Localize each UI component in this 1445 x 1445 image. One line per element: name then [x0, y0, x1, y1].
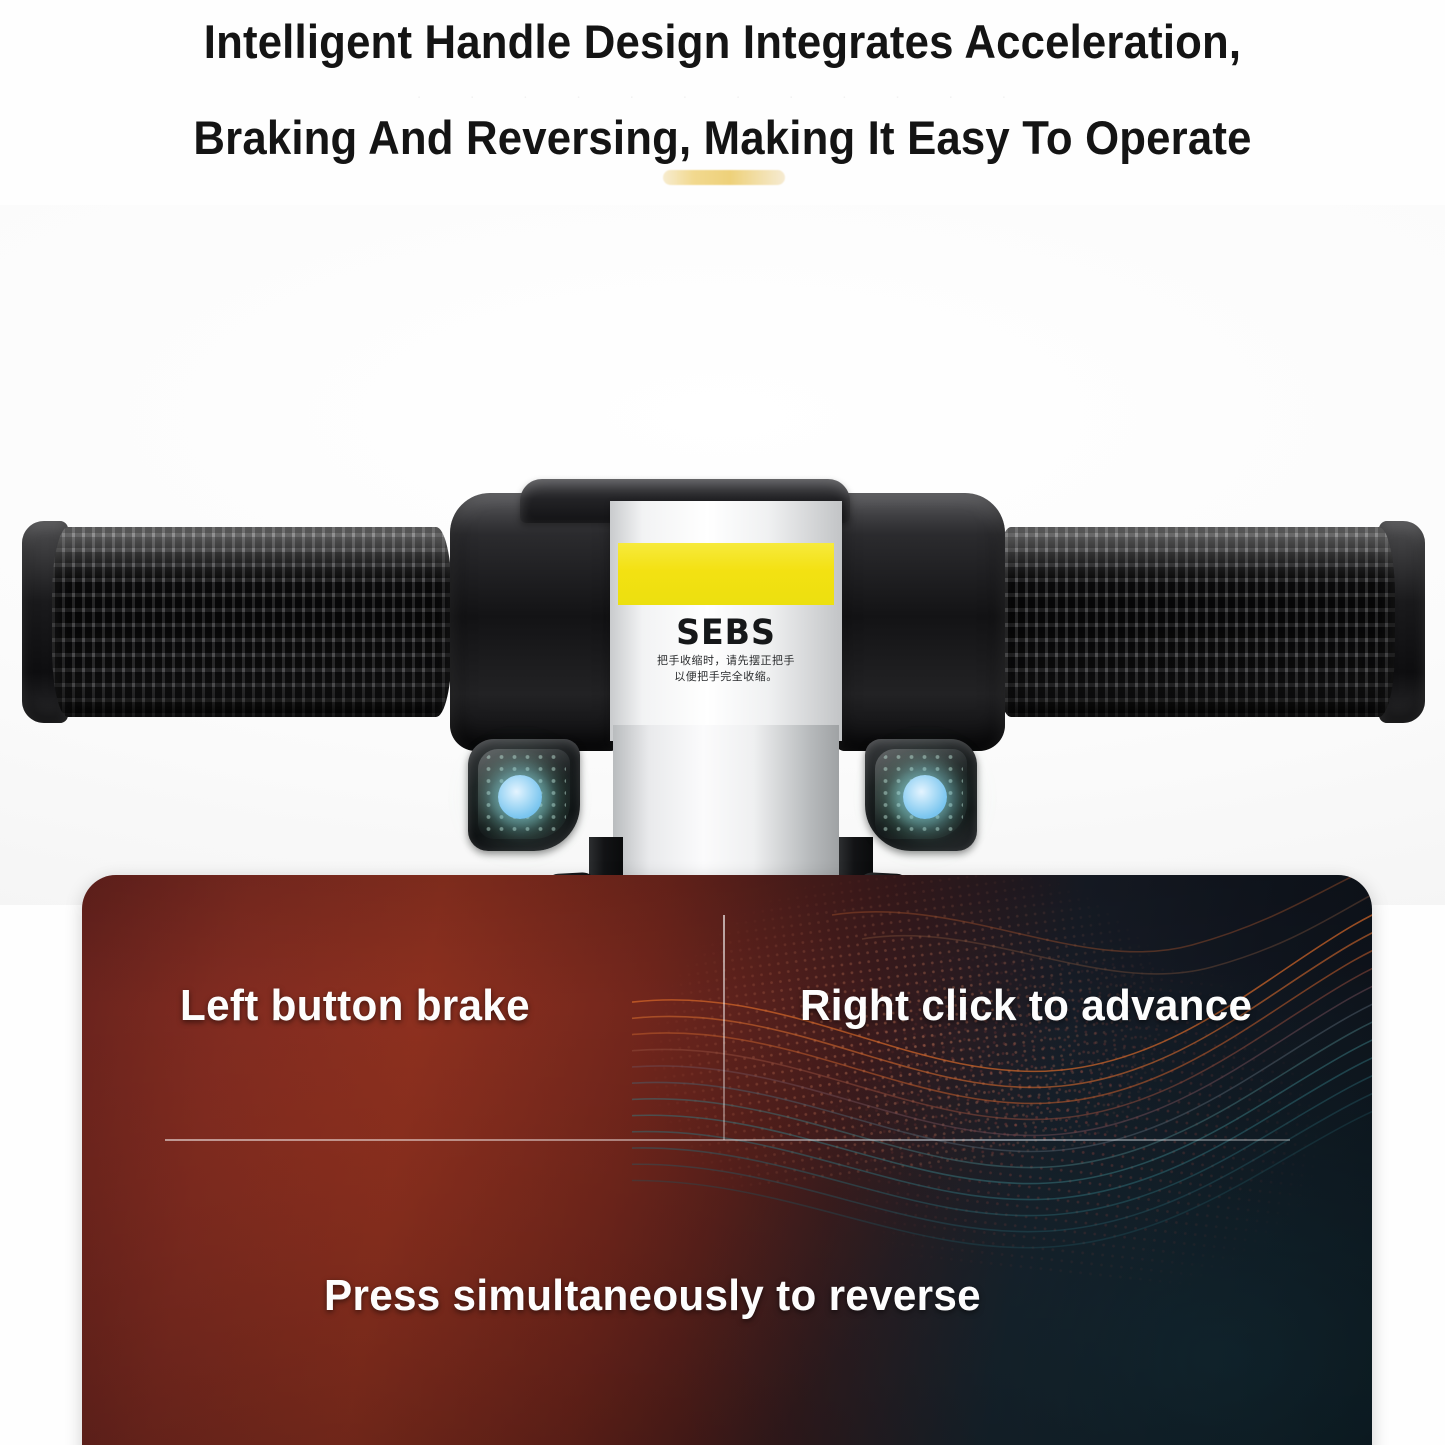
product-photo: SEBS 把手收缩时，请先摆正把手 以便把手完全收缩。: [0, 205, 1445, 905]
brand-logo-text: SEBS: [616, 613, 836, 653]
headline-accent-pill: [663, 170, 785, 185]
brand-label-plate: SEBS 把手收缩时，请先摆正把手 以便把手完全收缩。: [610, 501, 842, 741]
product-marketing-image: Intelligent Handle Design Integrates Acc…: [0, 0, 1445, 1445]
right-click-advance-label: Right click to advance: [800, 981, 1252, 1031]
left-handlebar-grip: [52, 527, 452, 717]
headline-line-1: Intelligent Handle Design Integrates Acc…: [51, 18, 1395, 65]
press-simultaneously-reverse-label: Press simultaneously to reverse: [324, 1271, 981, 1321]
notice-line-2: 以便把手完全收缩。: [674, 670, 778, 683]
right-clamp-housing: [835, 493, 1005, 751]
banner-vertical-divider: [723, 915, 725, 1140]
headline-ghost-text: · · · · · · · · · · · ·: [0, 88, 1445, 105]
yellow-accent-band: [618, 543, 834, 605]
left-button-brake-label: Left button brake: [180, 981, 530, 1031]
right-grip-texture: [995, 527, 1395, 717]
right-led-indicator: [903, 775, 947, 819]
right-throttle-thumb-lever[interactable]: [865, 739, 977, 851]
headline-line-2: Braking And Reversing, Making It Easy To…: [51, 114, 1395, 161]
wave-line-graphic: [632, 875, 1372, 1275]
banner-horizontal-divider: [165, 1139, 1290, 1141]
notice-line-1: 把手收缩时，请先摆正把手: [657, 654, 795, 667]
left-grip-texture: [52, 527, 452, 717]
chinese-notice-text: 把手收缩时，请先摆正把手 以便把手完全收缩。: [610, 653, 842, 685]
left-clamp-housing: [450, 493, 620, 751]
left-led-indicator: [498, 775, 542, 819]
right-handlebar-grip: [995, 527, 1395, 717]
left-brake-thumb-lever[interactable]: [468, 739, 580, 851]
instruction-banner: Left button brake Right click to advance…: [82, 875, 1372, 1445]
